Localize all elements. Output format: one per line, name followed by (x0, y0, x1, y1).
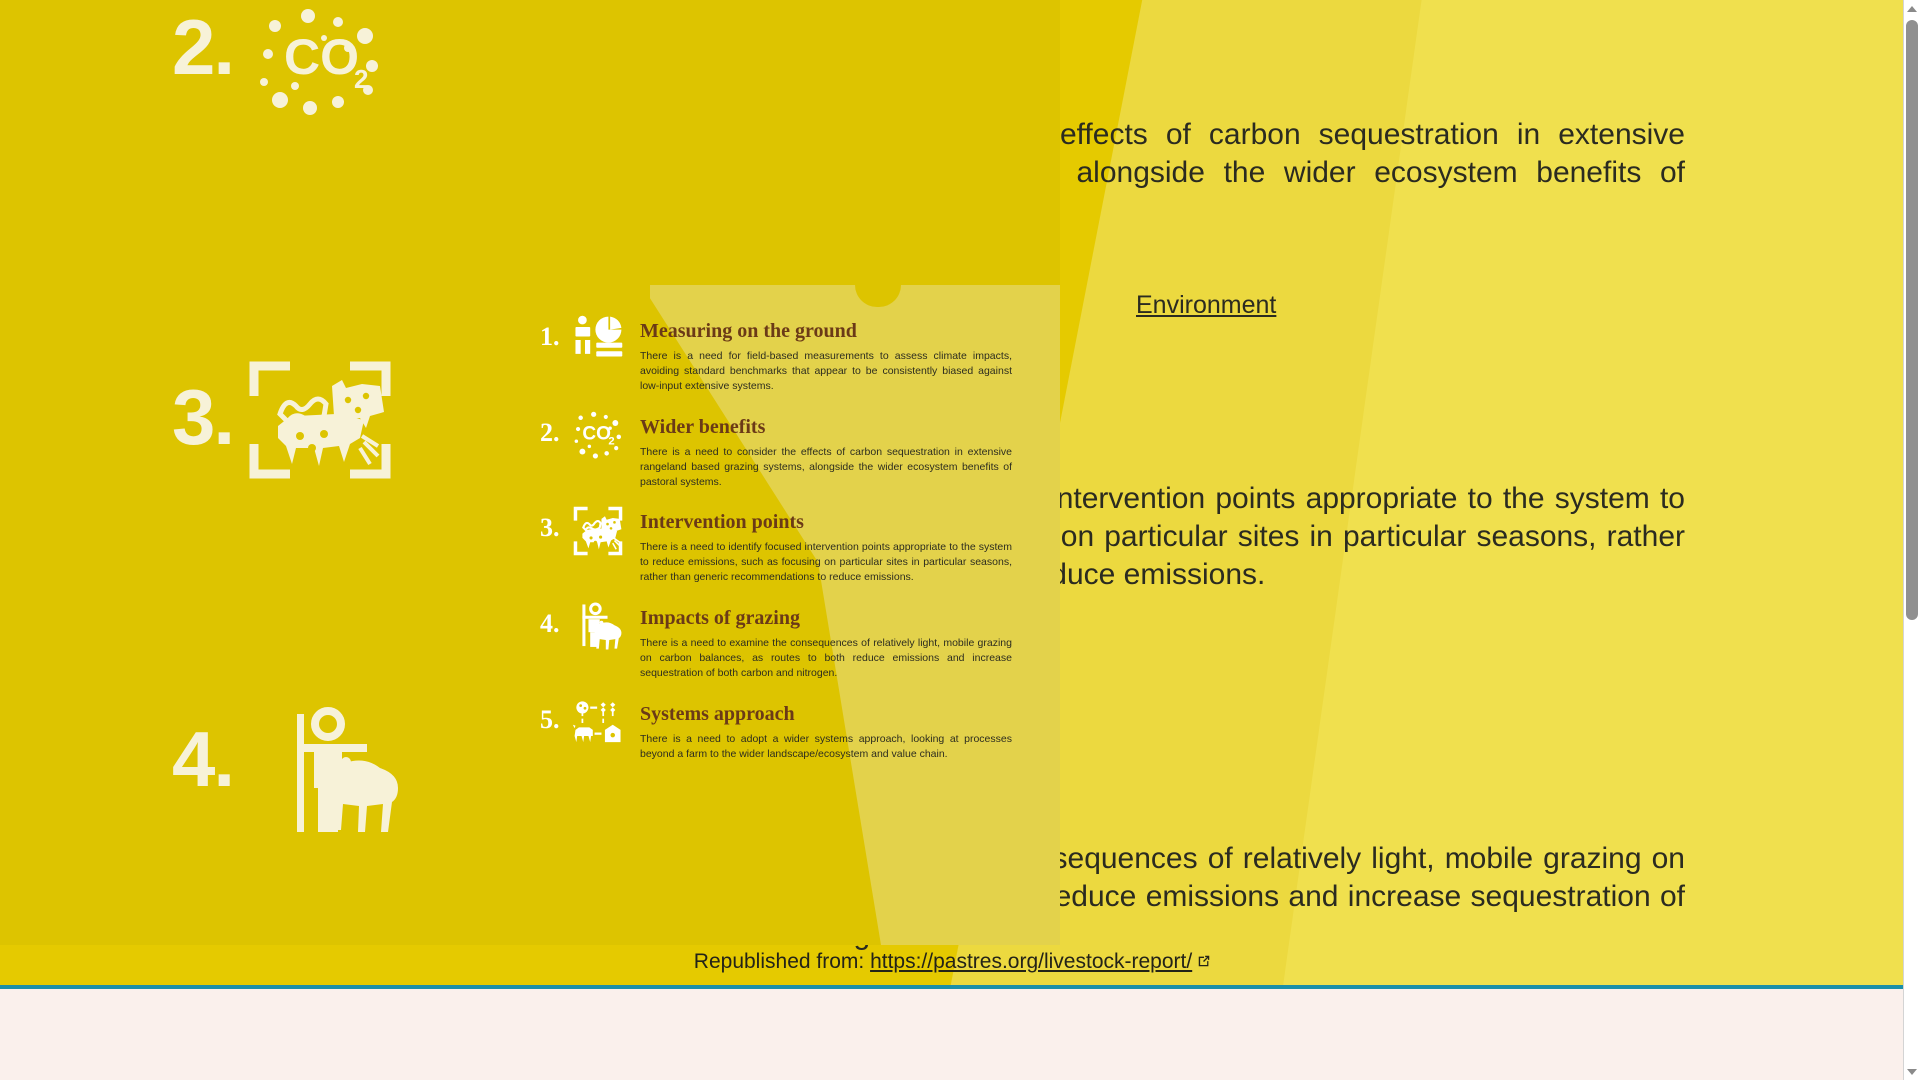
marker-2: 2. (172, 8, 233, 86)
republished-line: Republished from: https://pastres.org/li… (0, 950, 1905, 974)
marker-2-number: 2. (172, 3, 233, 91)
svg-text:2: 2 (608, 435, 614, 447)
herder-with-cow-icon (572, 601, 624, 653)
page-root: Wider benefits There is a need to consid… (0, 0, 1920, 1080)
list-item: 2. CO 2 Wider benefits (540, 416, 1040, 490)
list-item-description: There is a need to examine the consequen… (640, 636, 1012, 681)
list-item-index: 4. (540, 609, 560, 639)
svg-text:CO: CO (582, 423, 611, 444)
list-item-title: Systems approach (640, 703, 1040, 725)
list-item-title: Wider benefits (640, 416, 1040, 438)
list-item-description: There is a need to consider the effects … (640, 445, 1012, 490)
list-item-index: 1. (540, 322, 560, 352)
list-item-title: Measuring on the ground (640, 320, 1040, 342)
list-item: 5. (540, 703, 1040, 762)
article-panel: Wider benefits There is a need to consid… (0, 0, 1905, 985)
list-item-title: Impacts of grazing (640, 607, 1040, 629)
scroll-down-arrow-icon[interactable] (1904, 1063, 1920, 1080)
category-link-environment[interactable]: Environment (1136, 291, 1276, 320)
scroll-up-arrow-icon[interactable] (1904, 0, 1920, 17)
marker-3-number: 3. (172, 373, 233, 461)
list-item-description: There is a need for field-based measurem… (640, 349, 1012, 394)
section-divider (0, 985, 1905, 989)
co2-icon: CO 2 (572, 410, 624, 462)
infographic-image: 2. CO 2 3. (0, 0, 1060, 945)
page-scrollbar[interactable] (1903, 0, 1920, 1080)
list-item-index: 3. (540, 513, 560, 543)
marker-4: 4. (172, 720, 233, 798)
list-item-index: 5. (540, 705, 560, 735)
list-item-index: 2. (540, 418, 560, 448)
list-item-description: There is a need to identify focused inte… (640, 540, 1012, 585)
marker-3: 3. (172, 378, 233, 456)
list-item: 4. Impacts of grazing (540, 607, 1040, 681)
republished-source-link[interactable]: https://pastres.org/livestock-report/ (870, 950, 1192, 973)
systems-network-icon (572, 697, 624, 749)
herder-with-cow-icon-large (250, 700, 400, 845)
list-item-description: There is a need to adopt a wider systems… (640, 732, 1012, 762)
cattle-scan-icon (572, 505, 624, 557)
external-link-icon (1197, 950, 1211, 964)
infographic-list: 1. Measur (540, 320, 1040, 784)
cattle-scan-icon-large (240, 352, 400, 487)
list-item: 1. Measur (540, 320, 1040, 394)
republished-label: Republished from: (694, 950, 864, 973)
person-chart-icon (572, 314, 624, 366)
list-item: 3. (540, 511, 1040, 585)
list-item-title: Intervention points (640, 511, 1040, 533)
scrollbar-thumb[interactable] (1906, 20, 1918, 620)
marker-4-number: 4. (172, 715, 233, 803)
co2-icon-large: CO 2 (250, 8, 390, 128)
